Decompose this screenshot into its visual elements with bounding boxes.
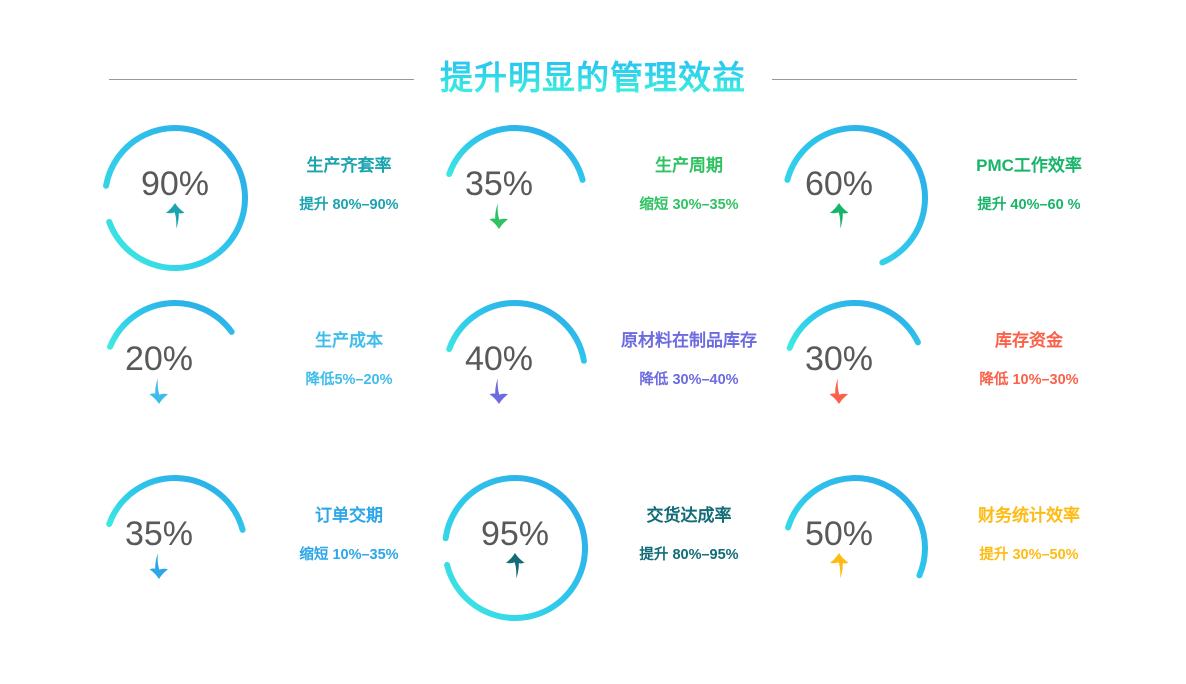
arrow-down-icon (488, 203, 510, 229)
page-header: 提升明显的管理效益 (0, 50, 1186, 108)
gauge-center: 20% (79, 293, 239, 453)
metric-texts: 交货达成率 提升 80%–95% (603, 468, 775, 565)
gauge-percent: 20% (125, 342, 193, 376)
metric-label: 生产周期 (655, 156, 723, 176)
metric-card: 50% 财务统计效率 提升 30%–50% (775, 468, 1115, 643)
metric-sublabel: 缩短 30%–35% (639, 197, 738, 214)
arrow-down-icon (828, 378, 850, 404)
metric-texts: 库存资金 降低 10%–30% (943, 293, 1115, 390)
metric-texts: 生产成本 降低5%–20% (263, 293, 435, 390)
gauge: 40% (435, 293, 595, 453)
metric-texts: 生产周期 缩短 30%–35% (603, 118, 775, 215)
metric-texts: 生产齐套率 提升 80%–90% (263, 118, 435, 215)
gauge-percent: 60% (805, 167, 873, 201)
gauge: 95% (435, 468, 595, 628)
gauge: 60% (775, 118, 935, 278)
metrics-grid: 90% 生产齐套率 提升 80%–90% (95, 118, 1095, 643)
metric-card: 60% PMC工作效率 提升 40%–60 % (775, 118, 1115, 293)
gauge-percent: 50% (805, 517, 873, 551)
infographic-page: 提升明显的管理效益 90% (0, 0, 1186, 684)
arrow-up-icon (828, 553, 850, 579)
metric-label: PMC工作效率 (976, 156, 1082, 176)
arrow-up-icon (504, 553, 526, 579)
metric-card: 35% 订单交期 缩短 10%–35% (95, 468, 435, 643)
gauge-percent: 40% (465, 342, 533, 376)
metric-texts: 原材料在制品库存 降低 30%–40% (603, 293, 775, 390)
metric-sublabel: 提升 80%–95% (639, 547, 738, 564)
header-divider-right (772, 79, 1077, 80)
gauge: 35% (95, 468, 255, 628)
metric-label: 交货达成率 (647, 506, 732, 526)
arrow-down-icon (148, 553, 170, 579)
gauge: 35% (435, 118, 595, 278)
metric-sublabel: 提升 30%–50% (979, 547, 1078, 564)
metric-card: 90% 生产齐套率 提升 80%–90% (95, 118, 435, 293)
metric-texts: 财务统计效率 提升 30%–50% (943, 468, 1115, 565)
gauge-percent: 95% (481, 517, 549, 551)
gauge-percent: 90% (141, 167, 209, 201)
gauge-center: 30% (759, 293, 919, 453)
page-title: 提升明显的管理效益 (440, 60, 746, 98)
arrow-up-icon (164, 203, 186, 229)
arrow-down-icon (148, 378, 170, 404)
metric-card: 40% 原材料在制品库存 降低 30%–40% (435, 293, 775, 468)
gauge: 20% (95, 293, 255, 453)
metric-card: 95% 交货达成率 提升 80%–95% (435, 468, 775, 643)
gauge-center: 35% (419, 118, 579, 278)
gauge-percent: 35% (125, 517, 193, 551)
gauge-center: 40% (419, 293, 579, 453)
metric-label: 生产成本 (315, 331, 383, 351)
metric-label: 生产齐套率 (307, 156, 392, 176)
gauge: 50% (775, 468, 935, 628)
metric-sublabel: 降低 30%–40% (639, 372, 738, 389)
metric-card: 35% 生产周期 缩短 30%–35% (435, 118, 775, 293)
metric-label: 原材料在制品库存 (621, 331, 757, 351)
metric-label: 财务统计效率 (978, 506, 1080, 526)
metric-card: 30% 库存资金 降低 10%–30% (775, 293, 1115, 468)
gauge-percent: 35% (465, 167, 533, 201)
header-divider-left (109, 79, 414, 80)
arrow-up-icon (828, 203, 850, 229)
metric-texts: 订单交期 缩短 10%–35% (263, 468, 435, 565)
metric-sublabel: 提升 80%–90% (299, 197, 398, 214)
metric-label: 订单交期 (315, 506, 383, 526)
metric-texts: PMC工作效率 提升 40%–60 % (943, 118, 1115, 215)
gauge-center: 35% (79, 468, 239, 628)
metric-label: 库存资金 (995, 331, 1063, 351)
metric-sublabel: 降低5%–20% (305, 372, 392, 389)
metric-sublabel: 降低 10%–30% (979, 372, 1078, 389)
arrow-down-icon (488, 378, 510, 404)
gauge-percent: 30% (805, 342, 873, 376)
metric-sublabel: 缩短 10%–35% (299, 547, 398, 564)
gauge-center: 60% (759, 118, 919, 278)
gauge: 90% (95, 118, 255, 278)
gauge-center: 50% (759, 468, 919, 628)
gauge-center: 95% (435, 468, 595, 628)
metric-card: 20% 生产成本 降低5%–20% (95, 293, 435, 468)
gauge-center: 90% (95, 118, 255, 278)
gauge: 30% (775, 293, 935, 453)
metric-sublabel: 提升 40%–60 % (977, 197, 1080, 214)
